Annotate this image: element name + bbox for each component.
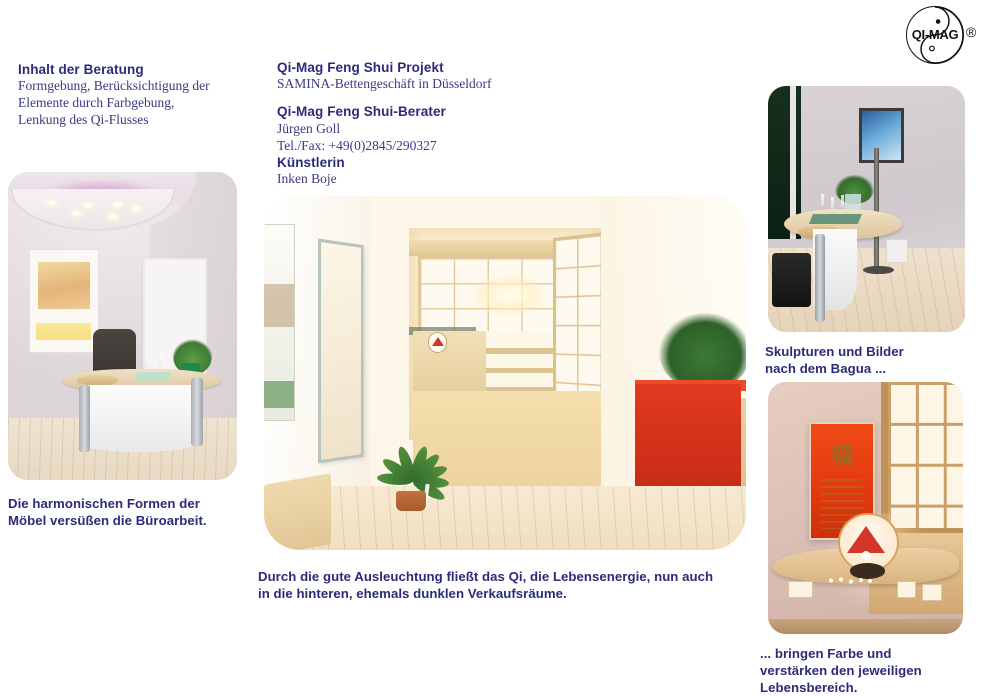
poster-page: QI-MAG ® Inhalt der Beratung Formgebung,…: [0, 0, 1000, 691]
bar-stele-base: [863, 266, 895, 275]
caption-bagua-line-1: Skulpturen und Bilder: [765, 344, 995, 361]
bar-glass: [841, 195, 844, 207]
room-triangle-sculpture: [428, 332, 447, 352]
room-picture-frame: [318, 239, 364, 464]
caption-office-line-2: Möbel versüßen die Büroarbeit.: [8, 513, 248, 530]
inhalt-heading: Inhalt der Beratung: [18, 62, 248, 78]
caption-farbe-line-2: verstärken den jeweiligen: [760, 663, 995, 680]
poster-band-brown: [264, 284, 294, 327]
poster-band-green: [264, 381, 294, 408]
room-right-plant: [659, 313, 746, 391]
berater-contact: Tel./Fax: +49(0)2845/290327: [277, 138, 577, 155]
kuenstlerin-name: Inken Boje: [277, 171, 577, 188]
bar-wall-socket: [886, 239, 908, 263]
bar-table-leg: [815, 234, 825, 323]
inhalt-line-2: Elemente durch Farbgebung,: [18, 95, 248, 112]
office-desk-leg: [191, 378, 202, 446]
photo-office: [8, 172, 237, 480]
photo-main-room: [264, 196, 746, 550]
office-spotlight: [109, 214, 118, 219]
bar-place-mat: [809, 214, 862, 224]
office-glass: [159, 354, 162, 367]
room-lamp-glow: [471, 274, 548, 316]
caption-office: Die harmonischen Formen der Möbel versüß…: [8, 496, 248, 530]
caption-office-line-1: Die harmonischen Formen der: [8, 496, 248, 513]
inhalt-line-3: Lenkung des Qi-Flusses: [18, 112, 248, 129]
logo-text: QI-MAG: [907, 27, 963, 42]
bar-glass: [831, 197, 834, 209]
bar-scene: [768, 86, 965, 332]
office-glass: [145, 355, 148, 368]
kuenstlerin-heading: Künstlerin: [277, 155, 577, 171]
caption-bagua-line-2: nach dem Bagua ...: [765, 361, 995, 378]
room-front-floor: [264, 486, 746, 550]
corner-card: [788, 581, 813, 598]
office-desk-leg: [79, 385, 90, 453]
photo-bar-table: [768, 86, 965, 332]
corner-triangle-icon: [847, 526, 885, 553]
plant-pot: [396, 491, 425, 511]
office-desk-front: [79, 385, 198, 453]
office-scene: [8, 172, 237, 480]
caption-room-line-1: Durch die gute Ausleuchtung fließt das Q…: [258, 569, 758, 586]
caption-main-room: Durch die gute Ausleuchtung fließt das Q…: [258, 569, 758, 603]
caption-farbe-line-1: ... bringen Farbe und: [760, 646, 995, 663]
photo-corner-shelf: 福: [768, 382, 963, 634]
room-shelf-board: [486, 368, 553, 374]
corner-stones: [825, 576, 876, 585]
block-spacer: [277, 93, 577, 104]
caption-bagua: Skulpturen und Bilder nach dem Bagua ...: [765, 344, 995, 378]
corner-scene: 福: [768, 382, 963, 634]
room-foreground-plant: [370, 398, 457, 511]
bar-vase: [845, 194, 861, 209]
caption-farbe-line-3: Lebensbereich.: [760, 680, 995, 696]
corner-card: [922, 584, 942, 601]
artwork-band-upper: [38, 262, 90, 309]
bar-office-chair: [772, 253, 811, 307]
room-shelf-wall: [486, 331, 553, 395]
registered-mark: ®: [966, 24, 976, 40]
berater-heading: Qi-Mag Feng Shui-Berater: [277, 104, 577, 120]
bar-stele-pole: [874, 148, 879, 271]
room-counter: [413, 331, 485, 395]
bar-illuminated-picture: [859, 108, 904, 163]
caption-room-line-2: in die hinteren, ehemals dunklen Verkauf…: [258, 586, 758, 603]
qi-mag-logo: QI-MAG ®: [906, 6, 994, 66]
projekt-info-block: Qi-Mag Feng Shui Projekt SAMINA-Bettenge…: [277, 60, 577, 188]
room-red-cloth: [635, 384, 741, 490]
artwork-band-lower: [36, 323, 90, 340]
corner-triangle-dot: [861, 551, 870, 560]
fu-character-glyph: 福: [831, 438, 853, 470]
room-shelf-board: [486, 348, 553, 354]
berater-name: Jürgen Goll: [277, 121, 577, 138]
inhalt-der-beratung-block: Inhalt der Beratung Formgebung, Berücksi…: [18, 62, 248, 129]
office-place-mat: [135, 372, 171, 382]
room-chair-back: [264, 473, 331, 550]
office-wall-artwork: [29, 249, 100, 353]
corner-card: [897, 581, 917, 598]
projekt-heading: Qi-Mag Feng Shui Projekt: [277, 60, 577, 76]
bar-glass: [821, 194, 824, 206]
corner-shoji-screen: [881, 382, 963, 534]
inhalt-line-1: Formgebung, Berücksichtigung der: [18, 78, 248, 95]
room-wall-poster: [264, 224, 295, 421]
caption-farbe: ... bringen Farbe und verstärken den jew…: [760, 646, 995, 696]
projekt-subtitle: SAMINA-Bettengeschäft in Düsseldorf: [277, 76, 577, 93]
corner-floor: [768, 619, 963, 634]
room-scene: [264, 196, 746, 550]
